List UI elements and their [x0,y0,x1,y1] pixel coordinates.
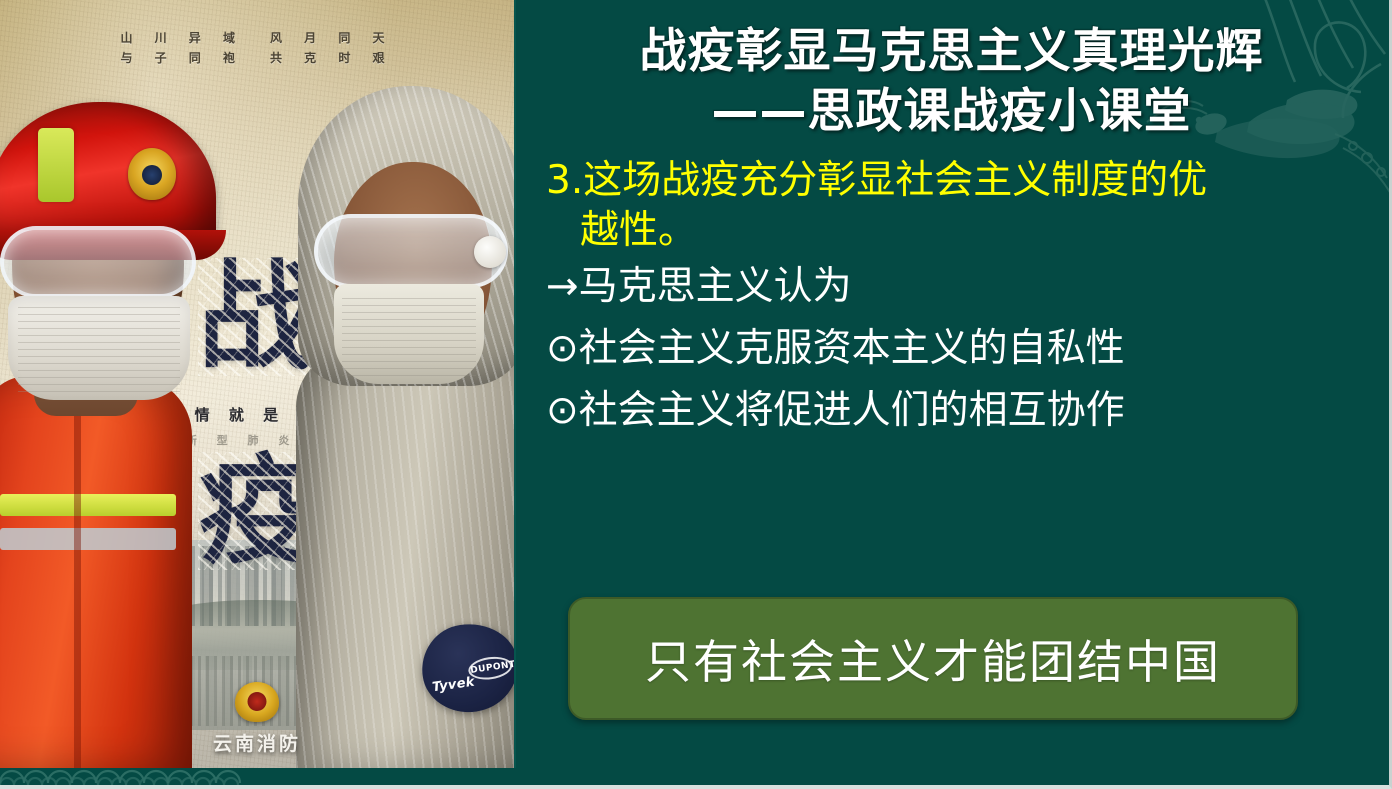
slide-title-line-1: 战疫彰显马克思主义真理光辉 [640,24,1264,79]
covid-poster-image: 山 川 异 域风 月 同 天与 子 同 袍共 克 时 艰 战 疫 疫 情 就 是… [0,0,516,768]
slide-body: 3.这场战疫充分彰显社会主义制度的优越性。 →马克思主义认为 ⊙社会主义克服资本… [540,156,1363,442]
main-point-line-1: 这场战疫充分彰显社会主义制度的优 [583,158,1207,203]
poster-couplet: 山 川 异 域风 月 同 天与 子 同 袍共 克 时 艰 [0,28,514,68]
bullet-item-1: ⊙社会主义克服资本主义的自私性 [540,318,1363,380]
firefighter-face-mask [8,296,190,400]
goggles-vent-icon [474,236,506,268]
firefighter-figure [0,78,232,768]
couplet-line-1a: 山 川 异 域 [120,31,244,45]
main-point: 3.这场战疫充分彰显社会主义制度的优越性。 [540,156,1363,256]
couplet-line-2b: 共 克 时 艰 [270,51,394,65]
conclusion-callout-box: 只有社会主义才能团结中国 [568,597,1298,720]
helmet-emblem-icon [128,148,176,200]
wave-ornament-icon [0,761,250,785]
fire-service-emblem-icon [235,682,279,722]
presentation-slide: 山 川 异 域风 月 同 天与 子 同 袍共 克 时 艰 战 疫 疫 情 就 是… [0,0,1392,789]
conclusion-callout-text: 只有社会主义才能团结中国 [645,626,1221,692]
medic-face-mask [334,284,484,384]
firefighter-jacket [0,376,192,768]
couplet-line-1b: 风 月 同 天 [270,31,394,45]
main-point-number: 3. [546,158,583,203]
tyvek-brand-label: Tyvek [431,675,475,696]
slide-title-line-2: ——思政课战疫小课堂 [540,82,1363,142]
firefighter-goggles [0,226,196,298]
helmet-reflective-strip [38,128,74,202]
bullet-item-2: ⊙社会主义将促进人们的相互协作 [540,380,1363,442]
medic-ppe-figure: Tyvek DUPONT [284,68,516,768]
slide-title: 战疫彰显马克思主义真理光辉 ——思政课战疫小课堂 [540,22,1363,142]
couplet-line-2a: 与 子 同 袍 [120,51,244,65]
main-point-line-2: 越性。 [546,206,1363,256]
poster-footer-label: 云南消防 [0,729,514,756]
arrow-line: →马克思主义认为 [540,256,1363,318]
